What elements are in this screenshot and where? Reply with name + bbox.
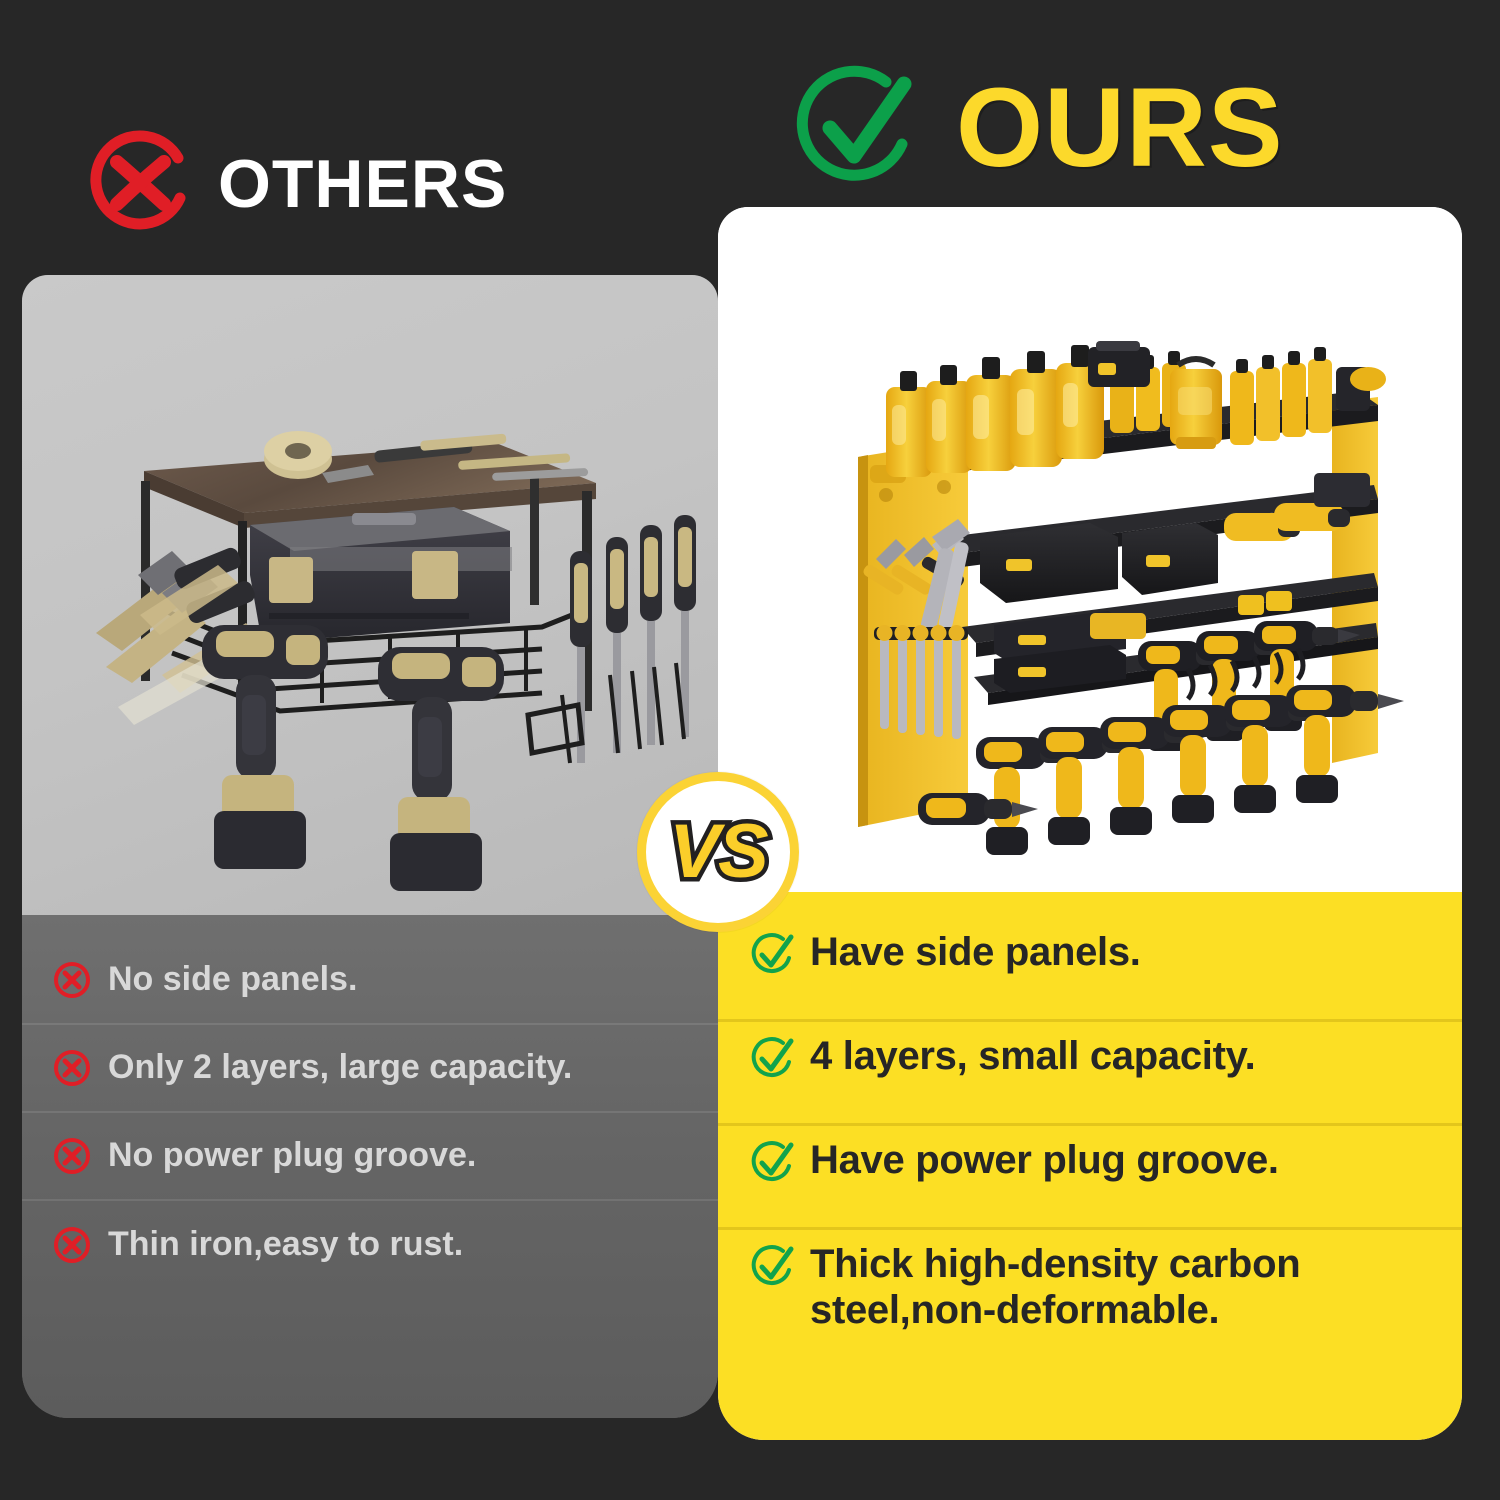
circled-check-icon — [790, 58, 930, 198]
list-item: Have power plug groove. — [718, 1126, 1462, 1230]
list-item: Thin iron,easy to rust. — [22, 1201, 718, 1289]
list-item: Only 2 layers, large capacity. — [22, 1025, 718, 1113]
list-item-label: Have side panels. — [810, 918, 1141, 976]
circled-check-icon — [750, 1036, 796, 1082]
others-panel: No side panels. Only 2 layers, large cap… — [22, 275, 718, 1418]
circled-x-icon — [84, 128, 196, 240]
list-item-label: No power plug groove. — [108, 1137, 476, 1174]
others-title: OTHERS — [218, 150, 507, 218]
circled-x-icon — [52, 1136, 92, 1176]
ours-product-photo — [718, 207, 1462, 892]
list-item: No side panels. — [22, 937, 718, 1025]
list-item-label: No side panels. — [108, 961, 357, 998]
list-item-label: Only 2 layers, large capacity. — [108, 1049, 572, 1086]
list-item: 4 layers, small capacity. — [718, 1022, 1462, 1126]
list-item-label: Thin iron,easy to rust. — [108, 1226, 463, 1263]
circled-check-icon — [750, 1140, 796, 1186]
circled-x-icon — [52, 1048, 92, 1088]
circled-check-icon — [750, 932, 796, 978]
others-product-photo — [22, 275, 718, 915]
ours-bullet-list: Have side panels. 4 layers, small capaci… — [718, 892, 1462, 1440]
list-item: No power plug groove. — [22, 1113, 718, 1201]
circled-check-icon — [750, 1244, 796, 1290]
list-item-label: Have power plug groove. — [810, 1126, 1279, 1184]
list-item-label: Thick high-density carbon steel,non-defo… — [810, 1230, 1440, 1333]
ours-title: OURS — [956, 72, 1284, 184]
comparison-infographic: OTHERS OURS — [0, 0, 1500, 1500]
circled-x-icon — [52, 1225, 92, 1265]
ours-panel: Have side panels. 4 layers, small capaci… — [718, 207, 1462, 1440]
others-bullet-list: No side panels. Only 2 layers, large cap… — [22, 915, 718, 1418]
others-header: OTHERS — [84, 128, 507, 240]
circled-x-icon — [52, 960, 92, 1000]
vs-badge: VS — [637, 772, 799, 932]
list-item: Have side panels. — [718, 918, 1462, 1022]
list-item: Thick high-density carbon steel,non-defo… — [718, 1230, 1462, 1380]
ours-header: OURS — [790, 58, 1284, 198]
list-item-label: 4 layers, small capacity. — [810, 1022, 1255, 1080]
vs-label: VS — [669, 814, 766, 890]
